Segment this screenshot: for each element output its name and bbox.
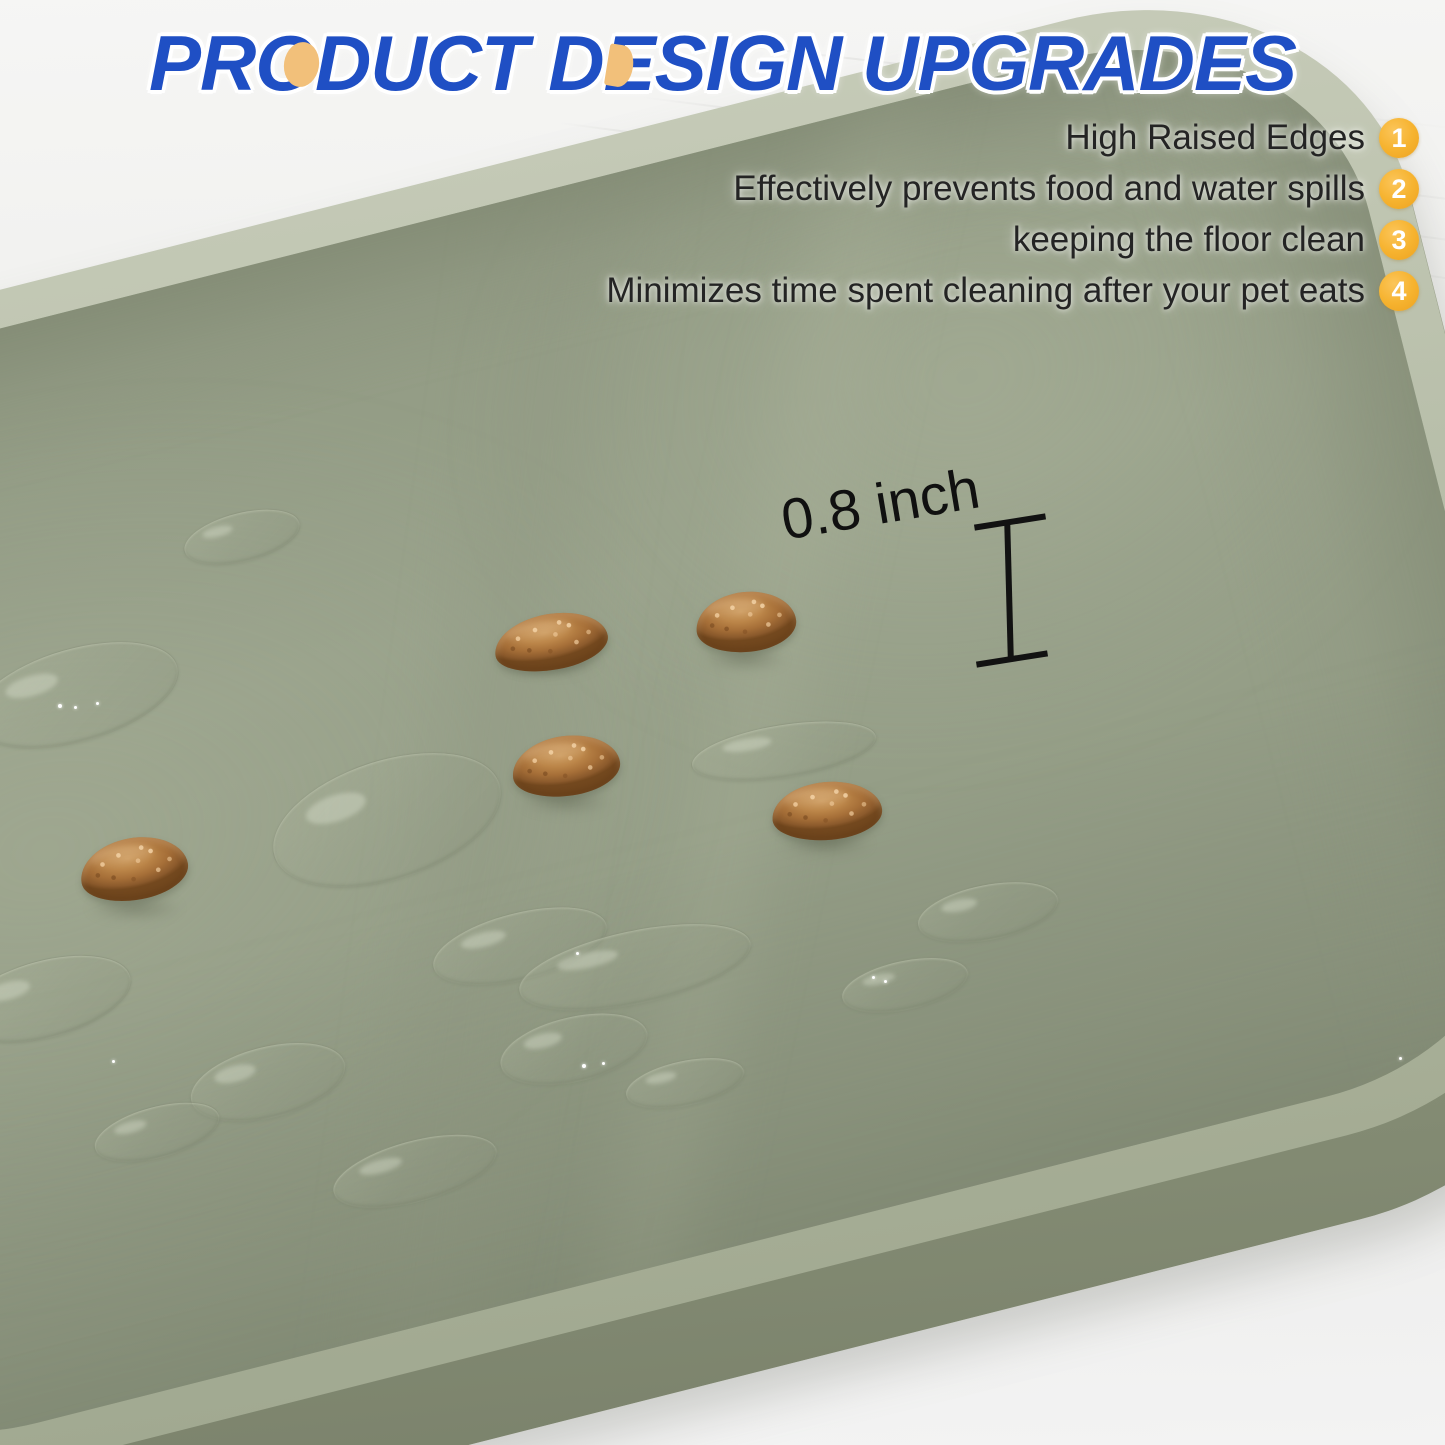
feature-number-badge: 2 <box>1379 169 1419 209</box>
droplet-highlight <box>1399 1057 1402 1060</box>
feature-item: Minimizes time spent cleaning after your… <box>606 271 1419 311</box>
feature-number-badge: 3 <box>1379 220 1419 260</box>
feature-text: Effectively prevents food and water spil… <box>733 169 1365 208</box>
feature-item: keeping the floor clean 3 <box>1013 220 1419 260</box>
droplet-highlight <box>58 704 62 708</box>
feature-text: Minimizes time spent cleaning after your… <box>606 271 1365 310</box>
droplet-highlight <box>872 976 875 979</box>
feature-text: High Raised Edges <box>1065 118 1365 157</box>
kibble <box>770 777 885 844</box>
droplet-highlight <box>112 1060 115 1063</box>
droplet-highlight <box>96 702 99 705</box>
feature-number-badge: 4 <box>1379 271 1419 311</box>
feature-text: keeping the floor clean <box>1013 220 1365 259</box>
feature-list: High Raised Edges 1 Effectively prevents… <box>419 118 1419 311</box>
droplet-highlight <box>602 1062 605 1065</box>
feature-item: High Raised Edges 1 <box>1065 118 1419 158</box>
feature-number-badge: 1 <box>1379 118 1419 158</box>
product-marketing-image: 0.8 inch PRODUCT DESIGN UPGRADES High Ra… <box>0 0 1445 1445</box>
droplet-highlight <box>582 1064 586 1068</box>
kibble <box>693 587 799 657</box>
droplet-highlight <box>74 706 77 709</box>
page-title: PRODUCT DESIGN UPGRADES <box>0 18 1445 109</box>
feature-item: Effectively prevents food and water spil… <box>733 169 1419 209</box>
droplet-highlight <box>884 980 887 983</box>
droplet-highlight <box>576 952 579 955</box>
